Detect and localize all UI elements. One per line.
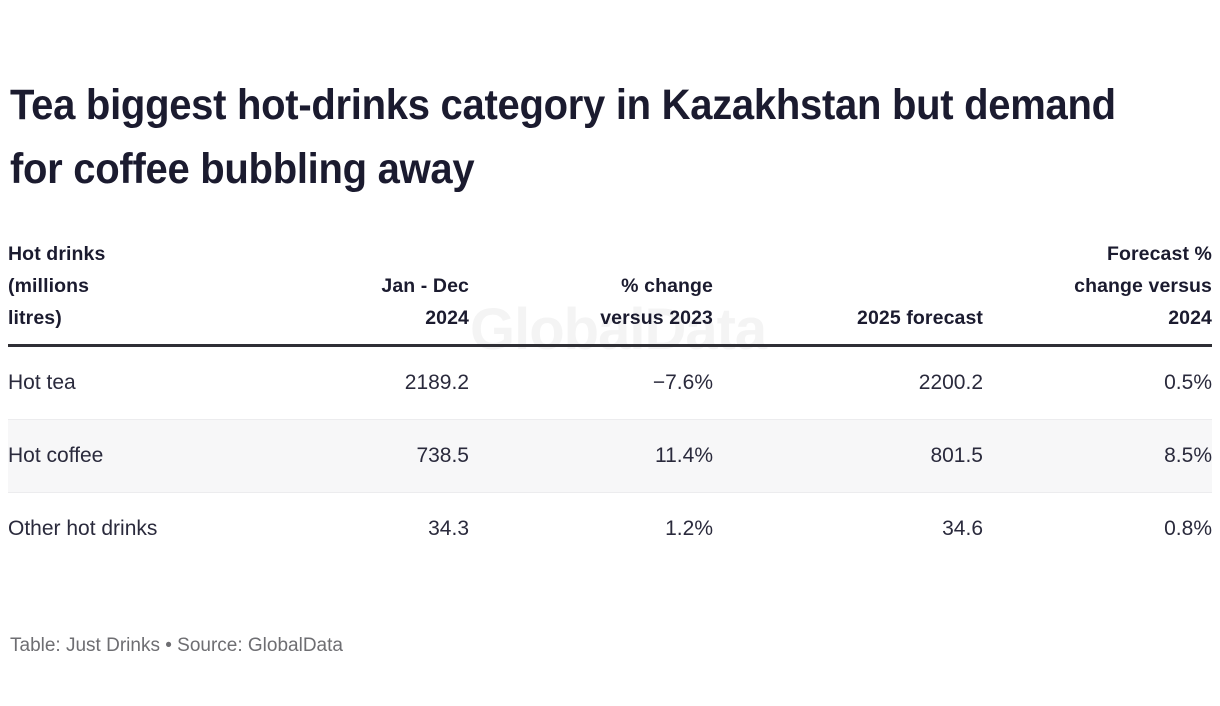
cell-category: Hot coffee [8,420,340,493]
cell-2025-forecast: 2200.2 [713,346,983,420]
header-line: 2025 forecast [857,307,983,329]
column-header-hot-drinks: Hot drinks (millions litres) [8,238,340,346]
table-header: Hot drinks (millions litres) Jan - Dec 2… [8,238,1212,346]
table-row: Other hot drinks 34.3 1.2% 34.6 0.8% [8,493,1212,566]
column-header-2025-forecast: 2025 forecast [713,238,983,346]
cell-jan-dec-2024: 34.3 [340,493,469,566]
header-line: 2024 [1168,307,1212,329]
table-body: Hot tea 2189.2 −7.6% 2200.2 0.5% Hot cof… [8,346,1212,566]
cell-2025-forecast: 34.6 [713,493,983,566]
header-line: % change [621,275,713,297]
table-container: Hot drinks (millions litres) Jan - Dec 2… [8,238,1212,565]
cell-jan-dec-2024: 738.5 [340,420,469,493]
cell-forecast-pct-change-2024: 0.5% [983,346,1212,420]
column-header-jan-dec-2024: Jan - Dec 2024 [340,238,469,346]
table-row: Hot coffee 738.5 11.4% 801.5 8.5% [8,420,1212,493]
cell-2025-forecast: 801.5 [713,420,983,493]
cell-forecast-pct-change-2024: 0.8% [983,493,1212,566]
table-figure: Tea biggest hot-drinks category in Kazak… [0,0,1220,706]
header-line: Hot drinks [8,243,105,265]
column-header-pct-change-2023: % change versus 2023 [469,238,713,346]
cell-category: Other hot drinks [8,493,340,566]
table-row: Hot tea 2189.2 −7.6% 2200.2 0.5% [8,346,1212,420]
cell-category: Hot tea [8,346,340,420]
cell-pct-change-2023: 11.4% [469,420,713,493]
cell-jan-dec-2024: 2189.2 [340,346,469,420]
table-header-row: Hot drinks (millions litres) Jan - Dec 2… [8,238,1212,346]
header-line: change versus [1074,275,1212,297]
cell-pct-change-2023: −7.6% [469,346,713,420]
hot-drinks-table: Hot drinks (millions litres) Jan - Dec 2… [8,238,1212,565]
cell-pct-change-2023: 1.2% [469,493,713,566]
page-title: Tea biggest hot-drinks category in Kazak… [10,73,1126,201]
cell-forecast-pct-change-2024: 8.5% [983,420,1212,493]
header-line: (millions [8,275,89,297]
header-line: litres) [8,307,62,329]
column-header-forecast-pct-change-2024: Forecast % change versus 2024 [983,238,1212,346]
header-line: 2024 [425,307,469,329]
header-line: Forecast % [1107,243,1212,265]
table-source-caption: Table: Just Drinks • Source: GlobalData [10,633,343,659]
header-line: versus 2023 [600,307,713,329]
header-line: Jan - Dec [381,275,469,297]
